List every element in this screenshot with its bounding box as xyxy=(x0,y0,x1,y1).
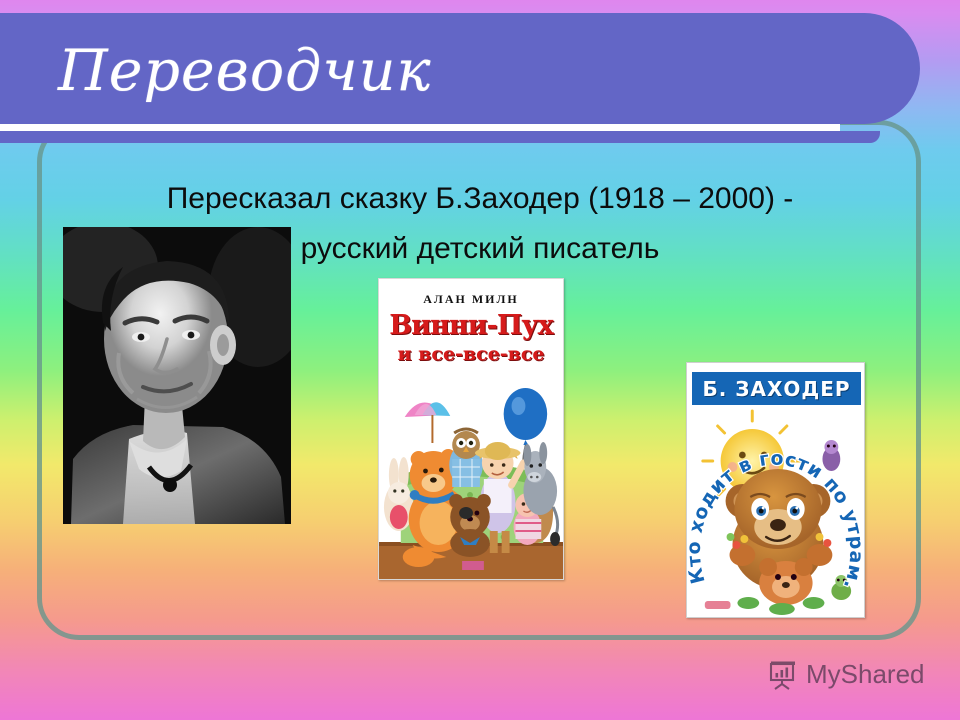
flipchart-chart-icon xyxy=(768,660,798,690)
book-subtitle-label: и все-все-все xyxy=(379,343,563,365)
book-title-label: Винни-Пух xyxy=(379,310,563,341)
page-title: Переводчик xyxy=(58,39,432,103)
book-author-band: Б. ЗАХОДЕР xyxy=(692,372,861,405)
author-portrait-photo xyxy=(63,227,291,524)
book-author-label: АЛАН МИЛН xyxy=(379,292,563,307)
slide-canvas: Переводчик Пересказал сказку Б.Заходер (… xyxy=(0,0,960,720)
book-cover-kto-hodit-v-gosti: Б. ЗАХОДЕР xyxy=(686,362,865,618)
myshared-label: MyShared xyxy=(806,659,925,690)
banner-lower-strip xyxy=(0,131,880,143)
banner-white-divider xyxy=(0,124,840,131)
book-cover-illustration: Кто ходит в гости по утрам... xyxy=(687,405,864,618)
title-banner: Переводчик xyxy=(0,13,920,143)
book-cover-illustration xyxy=(379,367,563,580)
book-cover-vinni-puh: АЛАН МИЛН Винни-Пух и все-все-все xyxy=(378,278,564,580)
book-author-label: Б. ЗАХОДЕР xyxy=(702,377,850,401)
body-text-line-1: Пересказал сказку Б.Заходер (1918 – 2000… xyxy=(60,174,900,224)
myshared-watermark: MyShared xyxy=(768,659,925,690)
portrait-illustration xyxy=(63,227,291,524)
